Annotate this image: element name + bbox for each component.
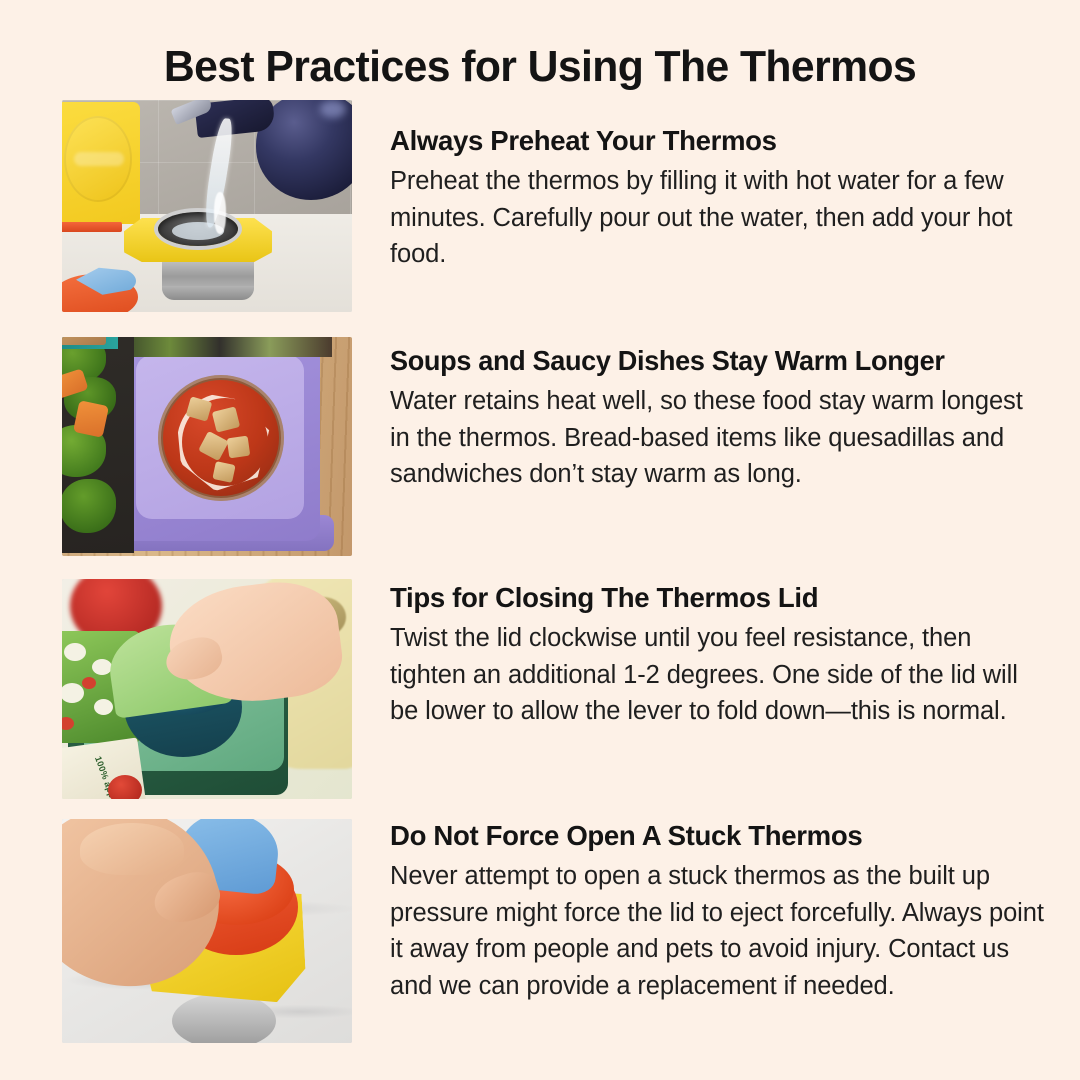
salad-tomato xyxy=(82,677,96,689)
tip-heading: Soups and Saucy Dishes Stay Warm Longer xyxy=(390,345,1038,377)
kettle-scene-illustration xyxy=(62,100,352,312)
carrot-slice xyxy=(73,400,109,438)
tip-copy-closing-lid: Tips for Closing The Thermos Lid Twist t… xyxy=(390,579,1048,730)
image-kettle-pouring-hot-water-into-thermos xyxy=(62,100,352,312)
tip-body: Never attempt to open a stuck thermos as… xyxy=(390,858,1048,1004)
tip-row-soups: Soups and Saucy Dishes Stay Warm Longer … xyxy=(62,337,1048,556)
tip-copy-soups: Soups and Saucy Dishes Stay Warm Longer … xyxy=(390,337,1048,493)
top-compartment-food xyxy=(124,337,332,357)
kettle-highlight xyxy=(320,100,346,118)
tip-heading: Always Preheat Your Thermos xyxy=(390,124,1038,157)
tip-body: Preheat the thermos by filling it with h… xyxy=(390,163,1048,273)
image-hand-opening-orange-thermos-lid-on-yellow-base xyxy=(62,819,352,1043)
salad-tomato xyxy=(62,717,74,730)
salad-cheese-piece xyxy=(62,683,84,703)
crouton xyxy=(212,461,235,483)
yellow-lunchbox xyxy=(62,102,140,224)
salad-cheese-piece xyxy=(92,659,112,675)
bento-scene-illustration xyxy=(62,337,352,556)
tip-heading: Tips for Closing The Thermos Lid xyxy=(390,581,1038,614)
infographic-page: Best Practices for Using The Thermos xyxy=(0,0,1080,1080)
salad-cheese-piece xyxy=(64,643,86,661)
crouton xyxy=(227,436,251,459)
thermos-base xyxy=(162,286,254,300)
tip-copy-preheat: Always Preheat Your Thermos Preheat the … xyxy=(390,100,1048,273)
hand-knuckles xyxy=(80,823,184,875)
vegetable-compartment xyxy=(62,337,134,553)
tip-heading: Do Not Force Open A Stuck Thermos xyxy=(390,819,1038,852)
green-lid-scene-illustration: 100% apple juice xyxy=(62,579,352,799)
lunchbox-strap xyxy=(62,222,122,232)
tip-row-preheat: Always Preheat Your Thermos Preheat the … xyxy=(62,100,1048,312)
salad-cheese-piece xyxy=(94,699,113,715)
juice-box-apple-graphic xyxy=(108,775,142,799)
tip-copy-stuck-thermos: Do Not Force Open A Stuck Thermos Never … xyxy=(390,819,1048,1004)
sandwich-corner xyxy=(62,337,106,345)
tip-row-stuck-thermos: Do Not Force Open A Stuck Thermos Never … xyxy=(62,819,1048,1043)
water-stream-highlight xyxy=(214,192,226,234)
stuck-thermos-scene-illustration xyxy=(62,819,352,1043)
broccoli-floret xyxy=(62,479,116,533)
image-purple-bento-box-with-tomato-soup xyxy=(62,337,352,556)
page-title: Best Practices for Using The Thermos xyxy=(16,43,1064,91)
tip-row-closing-lid: 100% apple juice Tips for Closing The Th… xyxy=(62,579,1048,799)
tip-body: Twist the lid clockwise until you feel r… xyxy=(390,620,1048,730)
brand-logo-emboss xyxy=(74,152,124,166)
image-hand-twisting-green-thermos-lid-closed: 100% apple juice xyxy=(62,579,352,799)
tip-body: Water retains heat well, so these food s… xyxy=(390,383,1048,493)
